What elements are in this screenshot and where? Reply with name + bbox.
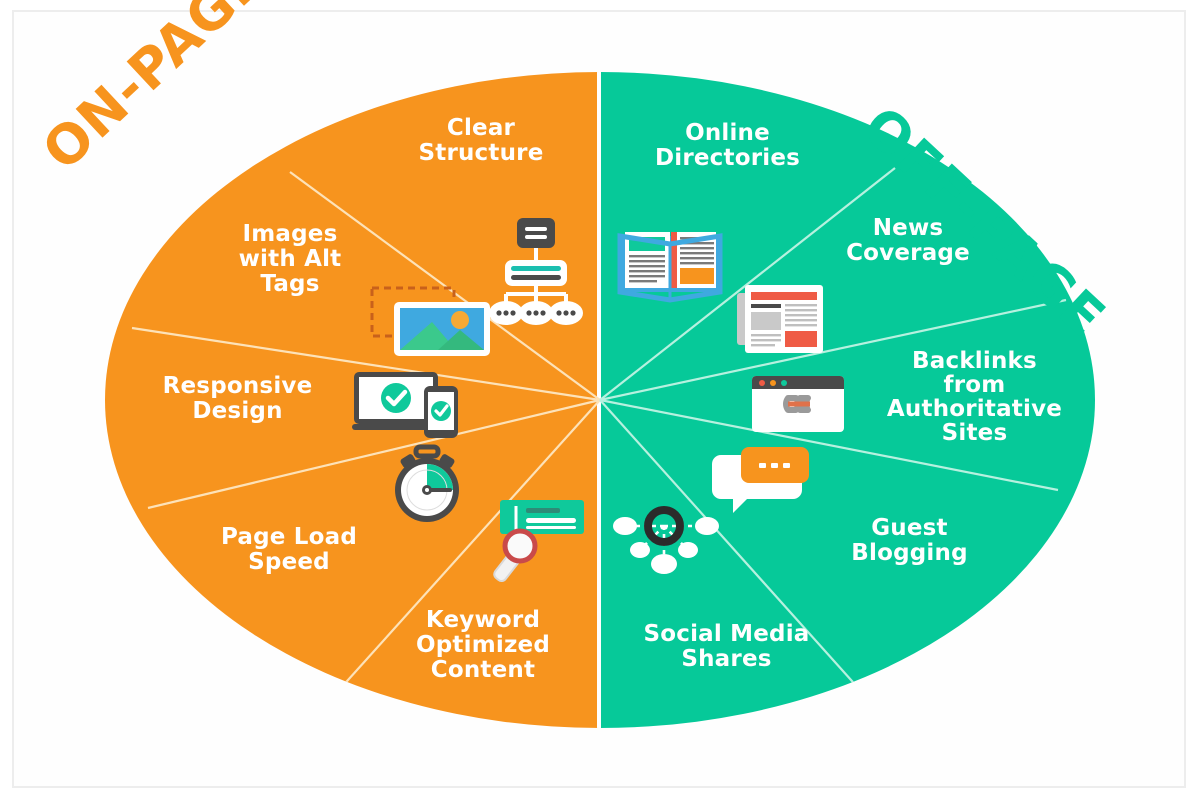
sector-label-keyword-optimized-content: Keyword Optimized Content: [388, 608, 578, 683]
sector-label-guest-blogging: Guest Blogging: [812, 516, 1007, 566]
sector-label-backlinks-authoritative-sites: Backlinks from Authoritative Sites: [872, 349, 1077, 445]
open-book-icon: [620, 232, 720, 300]
browser-link-icon: [752, 376, 844, 432]
sector-label-images-alt-tags: Images with Alt Tags: [200, 222, 380, 297]
center-divider: [597, 60, 601, 750]
sector-label-responsive-design: Responsive Design: [140, 374, 335, 424]
infographic-canvas: Clear Structure Images with Alt Tags Res…: [0, 0, 1200, 800]
sector-label-online-directories: Online Directories: [630, 121, 825, 171]
seo-wheel: Clear Structure Images with Alt Tags Res…: [0, 0, 1200, 800]
sector-label-clear-structure: Clear Structure: [386, 116, 576, 166]
sector-label-social-media-shares: Social Media Shares: [624, 622, 829, 672]
sector-label-page-load-speed: Page Load Speed: [190, 525, 388, 575]
stopwatch-icon: [395, 447, 459, 522]
newspaper-icon: [737, 285, 823, 353]
